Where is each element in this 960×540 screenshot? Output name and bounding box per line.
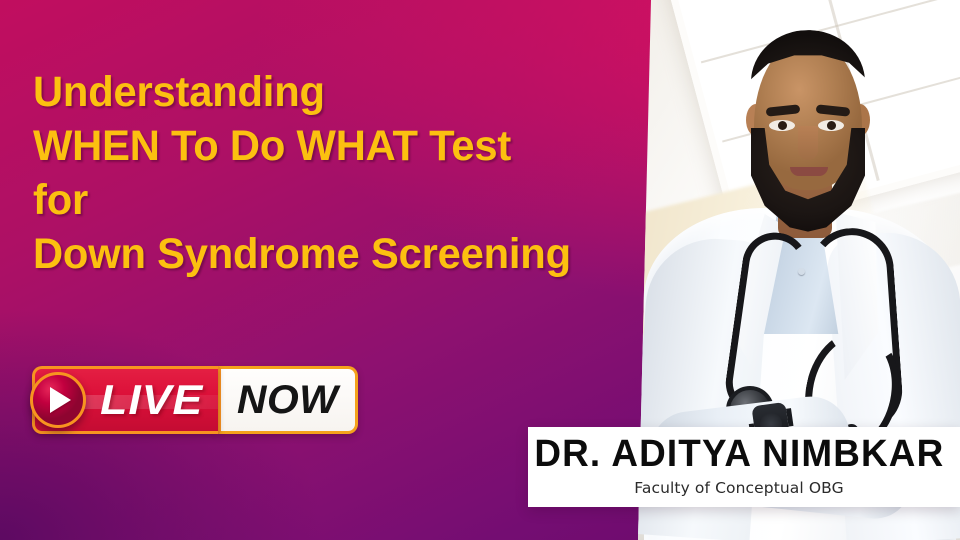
headline-line-2: WHEN To Do WHAT Test <box>33 120 615 174</box>
play-icon[interactable] <box>30 372 86 428</box>
headline-line-1: Understanding <box>33 66 615 120</box>
live-session-banner: Understanding WHEN To Do WHAT Test for D… <box>0 0 960 540</box>
now-label: NOW <box>237 378 338 423</box>
headline: Understanding WHEN To Do WHAT Test for D… <box>33 66 633 282</box>
nose <box>798 126 818 160</box>
mouth <box>790 167 828 176</box>
eye-left <box>769 120 795 131</box>
speaker-subtitle: Faculty of Conceptual OBG <box>528 479 950 497</box>
speaker-nameplate: DR. ADITYA NIMBKAR Faculty of Conceptual… <box>528 427 960 507</box>
speaker-name: DR. ADITYA NIMBKAR <box>534 433 943 476</box>
play-triangle-icon <box>50 387 71 413</box>
live-label: LIVE <box>100 376 203 424</box>
now-label-panel[interactable]: NOW <box>218 366 358 434</box>
headline-line-3: for <box>33 174 615 228</box>
live-now-badge[interactable]: LIVE NOW <box>32 366 358 434</box>
headline-line-4: Down Syndrome Screening <box>33 228 615 282</box>
eye-right <box>818 120 844 131</box>
